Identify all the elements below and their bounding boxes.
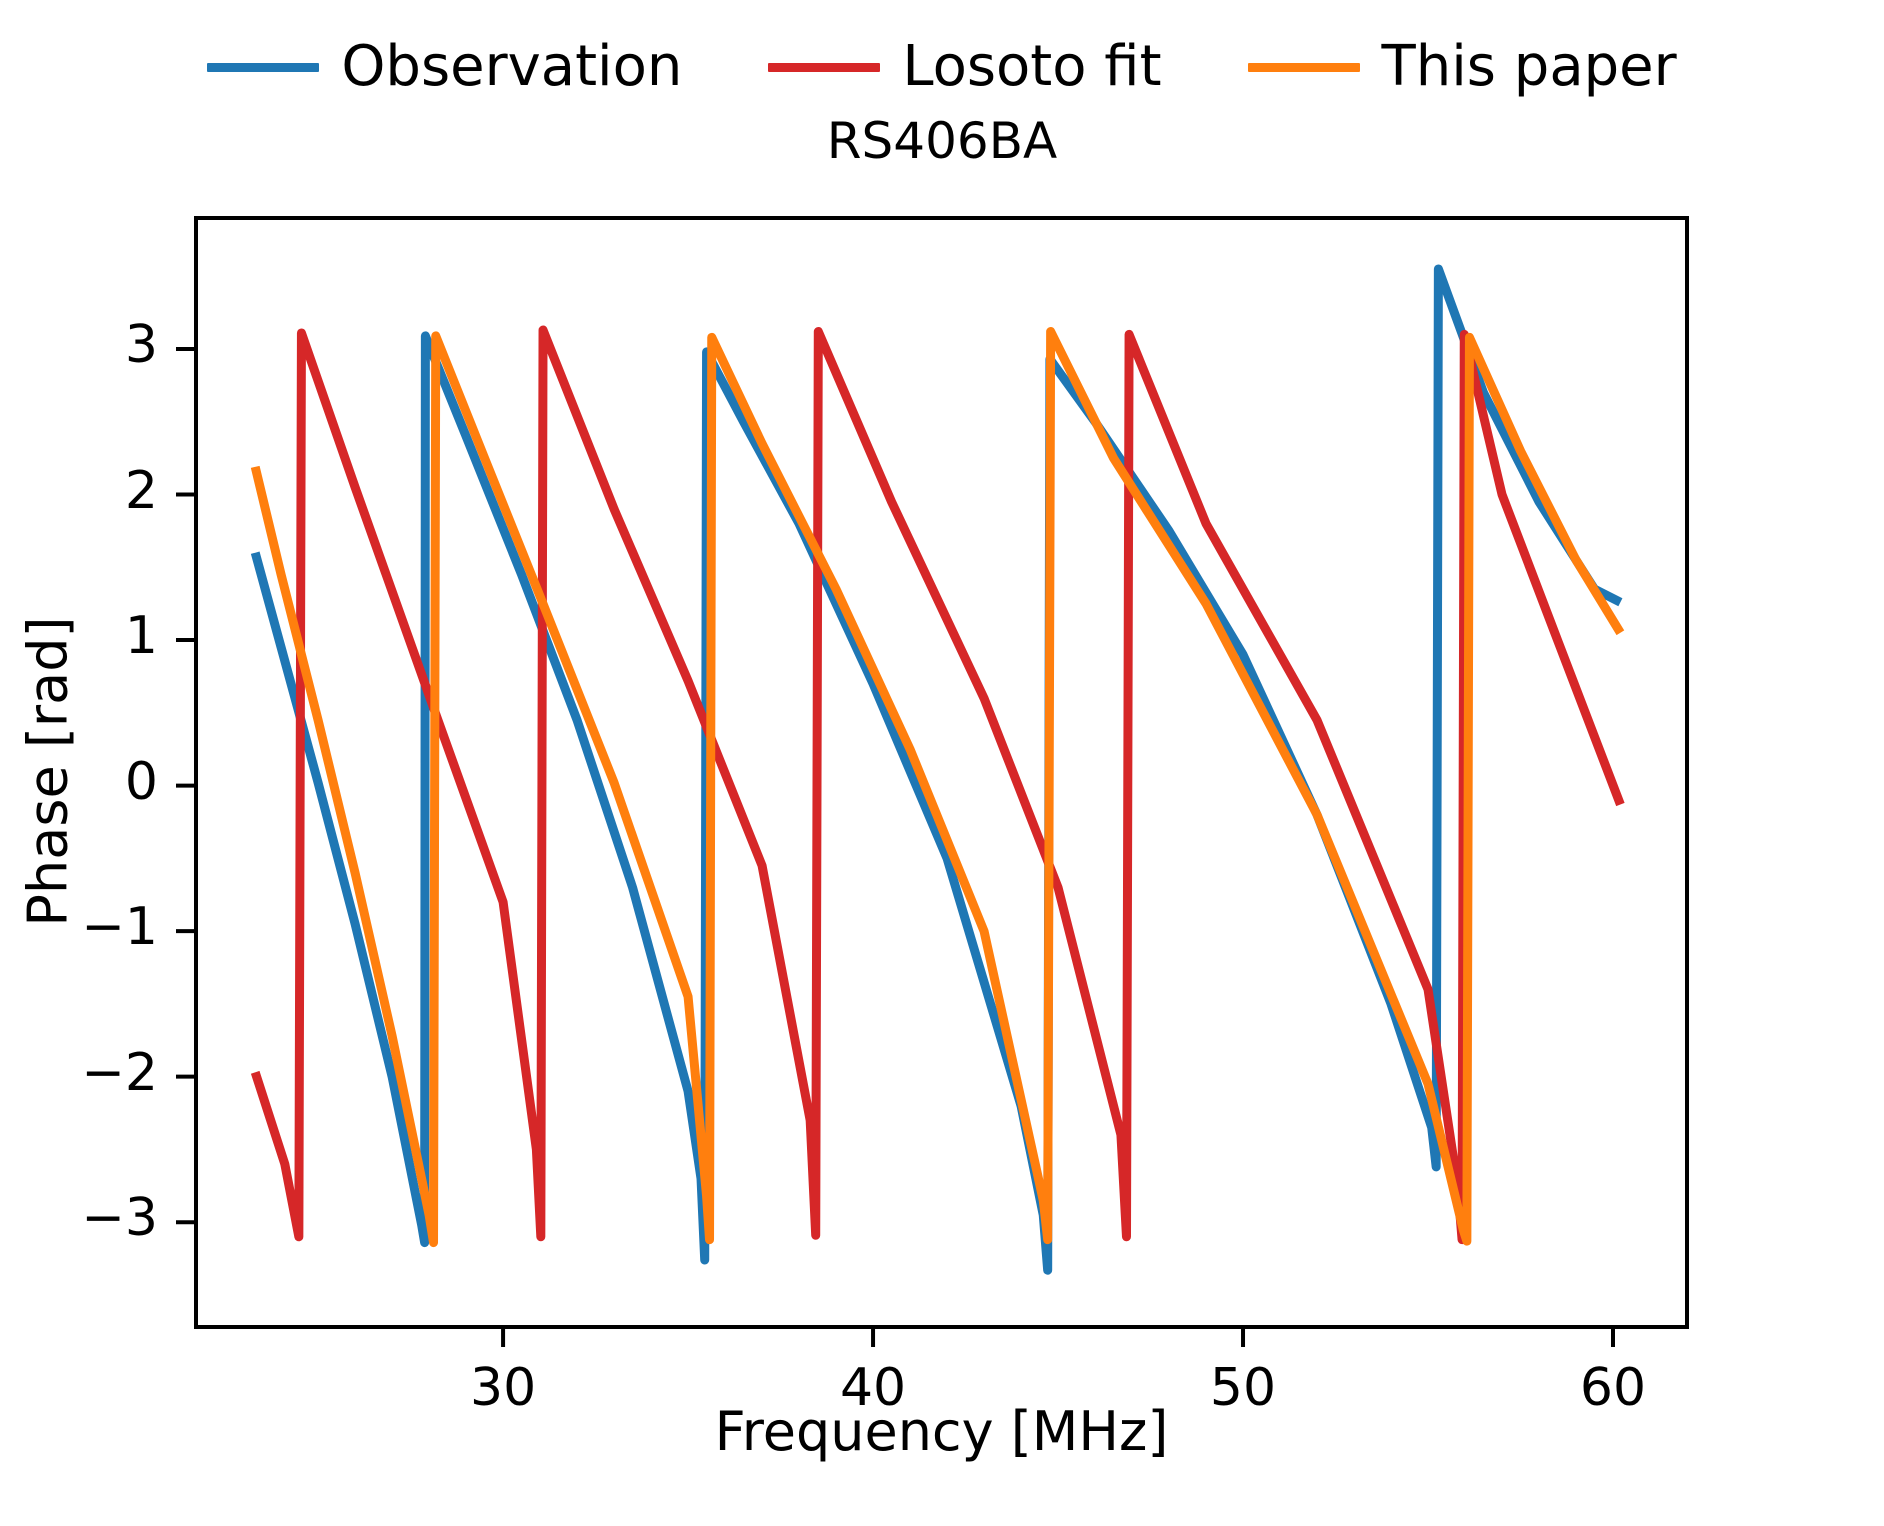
y-tick-label: 2 xyxy=(8,461,158,521)
x-tick-label: 60 xyxy=(1543,1358,1683,1418)
y-tick-label: −1 xyxy=(8,897,158,957)
y-tick-label: 3 xyxy=(8,315,158,375)
x-tick-label: 40 xyxy=(803,1358,943,1418)
plot-canvas xyxy=(0,0,1884,1526)
y-tick-label: 0 xyxy=(8,752,158,812)
y-tick-label: −2 xyxy=(8,1043,158,1103)
series-layer xyxy=(255,269,1620,1270)
figure-root: Observation Losoto fit This paper RS406B… xyxy=(0,0,1884,1526)
x-tick-label: 30 xyxy=(433,1358,573,1418)
series-line-losoto-fit xyxy=(255,330,1620,1240)
y-tick-label: 1 xyxy=(8,606,158,666)
x-tick-label: 50 xyxy=(1173,1358,1313,1418)
y-tick-label: −3 xyxy=(8,1188,158,1248)
